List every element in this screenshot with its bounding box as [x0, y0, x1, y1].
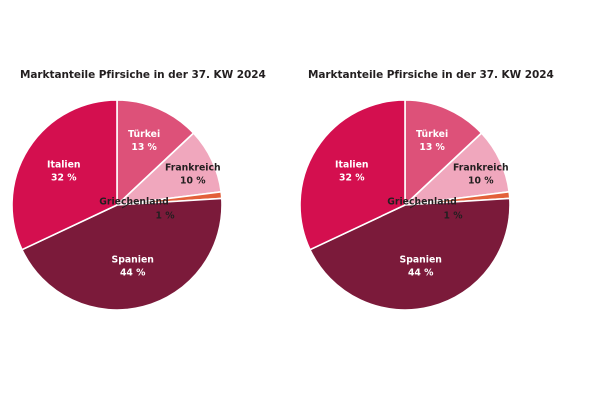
slice-value-frankreich: 10 % [468, 175, 494, 186]
slice-value-griechenland: 1 % [443, 211, 463, 222]
pie-chart-panel-right: Marktanteile Pfirsiche in der 37. KW 202… [288, 0, 588, 400]
slice-label-frankreich: Frankreich [453, 162, 509, 173]
slice-label-italien: Italien [335, 160, 368, 171]
slice-label-spanien: Spanien [112, 255, 154, 266]
slice-value-türkei: 13 % [419, 142, 445, 153]
slice-value-spanien: 44 % [408, 268, 434, 279]
slice-label-griechenland: Griechenland [387, 197, 457, 208]
chart-title: Marktanteile Pfirsiche in der 37. KW 202… [20, 69, 266, 81]
slice-label-spanien: Spanien [400, 255, 442, 266]
slice-label-italien: Italien [47, 160, 80, 171]
slice-label-frankreich: Frankreich [165, 162, 221, 173]
pie-graphic: Türkei13 %Frankreich10 %Griechenland1 %S… [300, 98, 590, 318]
slice-value-frankreich: 10 % [180, 175, 206, 186]
slice-value-italien: 32 % [51, 173, 77, 184]
pie-chart-panel-left: Marktanteile Pfirsiche in der 37. KW 202… [0, 0, 300, 400]
chart-title: Marktanteile Pfirsiche in der 37. KW 202… [308, 69, 554, 81]
pie-svg: Türkei13 %Frankreich10 %Griechenland1 %S… [300, 98, 590, 318]
slice-label-türkei: Türkei [128, 129, 160, 140]
pie-graphic: Türkei13 %Frankreich10 %Griechenland1 %S… [12, 98, 302, 318]
slice-value-spanien: 44 % [120, 268, 146, 279]
slice-value-italien: 32 % [339, 173, 365, 184]
slice-value-griechenland: 1 % [155, 211, 175, 222]
slice-label-türkei: Türkei [416, 129, 448, 140]
slice-label-griechenland: Griechenland [99, 197, 169, 208]
pie-svg: Türkei13 %Frankreich10 %Griechenland1 %S… [12, 98, 302, 318]
slice-value-türkei: 13 % [131, 142, 157, 153]
chart-canvas: Marktanteile Pfirsiche in der 37. KW 202… [0, 0, 600, 400]
